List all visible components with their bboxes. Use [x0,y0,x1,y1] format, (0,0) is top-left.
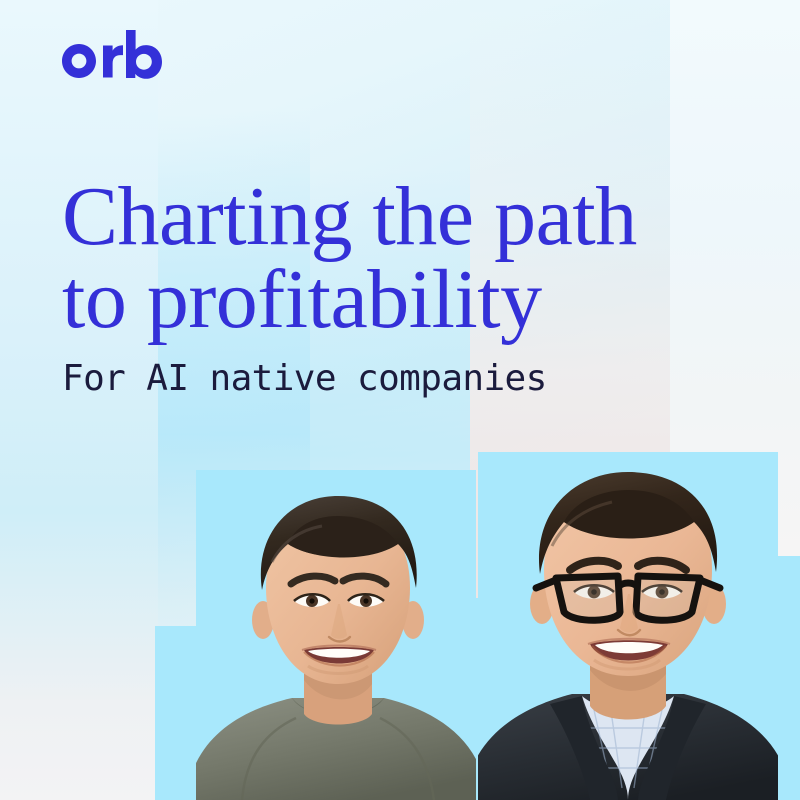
portrait-right-image [478,452,778,800]
headline: Charting the path to profitability [62,176,762,341]
portrait-left [196,470,476,800]
portrait-right [478,452,778,800]
background-block-left-aqua [0,0,158,800]
headline-line-1: Charting the path [62,176,762,257]
promo-card: Charting the path to profitability For A… [0,0,800,800]
headline-line-2: to profitability [62,259,762,340]
orb-logo-mark [62,30,162,79]
subtitle: For AI native companies [62,358,547,399]
portrait-left-image [196,470,476,800]
orb-logo[interactable] [58,30,178,86]
